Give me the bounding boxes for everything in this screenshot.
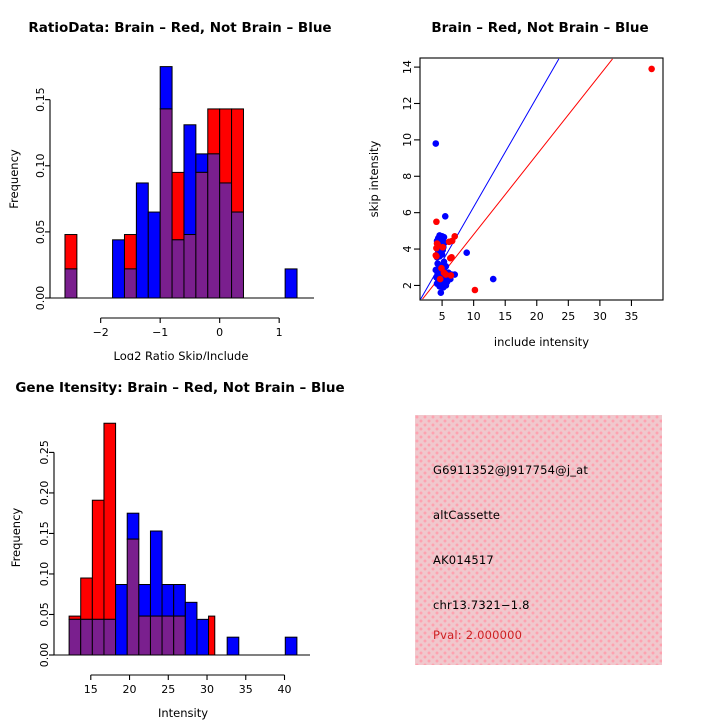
scatter-point: [472, 287, 479, 294]
gene-bars: [69, 423, 297, 655]
info-event-type: altCassette: [433, 508, 500, 522]
gene-x-tick-label: 35: [239, 683, 253, 696]
scatter-y-tick-label: 14: [401, 60, 414, 74]
gene-bar-blue: [116, 585, 128, 656]
panel-scatter: Brain – Red, Not Brain – Blue 2468101214…: [360, 0, 720, 360]
ratio-bar-blue: [160, 67, 172, 109]
gene-histogram-svg: 0.000.050.100.150.200.25Frequency1520253…: [0, 360, 360, 720]
ratio-bar-red: [232, 109, 244, 212]
gene-bar-overlap: [127, 539, 139, 655]
ratio-x-tick-label: −1: [152, 326, 168, 339]
scatter-point: [448, 254, 455, 261]
scatter-plot-box: [420, 58, 663, 300]
gene-bar-overlap: [162, 616, 174, 655]
gene-bar-blue: [174, 585, 186, 617]
ratio-bar-blue: [196, 154, 208, 173]
gene-bar-overlap: [104, 619, 116, 655]
gene-x-tick-label: 15: [84, 683, 98, 696]
ratio-y-tick-label: 0.05: [34, 220, 47, 245]
gene-bar-overlap: [69, 619, 81, 655]
ratio-y-tick-label: 0.00: [34, 286, 47, 311]
scatter-point: [438, 289, 445, 296]
gene-y-tick-label: 0.05: [38, 602, 51, 627]
plot-canvas: RatioData: Brain – Red, Not Brain – Blue…: [0, 0, 720, 720]
scatter-point: [442, 213, 449, 220]
scatter-y-tick-label: 12: [401, 96, 414, 110]
gene-bar-blue: [185, 602, 197, 655]
gene-y-tick-label: 0.20: [38, 481, 51, 506]
ratio-bar-red: [172, 172, 184, 239]
gene-histogram-title: Gene Itensity: Brain – Red, Not Brain – …: [0, 380, 360, 396]
gene-bar-overlap: [92, 619, 104, 655]
info-probe-id: G6911352@J917754@j_at: [433, 463, 588, 477]
scatter-point: [433, 245, 440, 252]
gene-bar-red: [209, 616, 215, 655]
scatter-point: [432, 140, 439, 147]
scatter-y-axis-label: skip intensity: [367, 140, 381, 217]
gene-bar-overlap: [150, 616, 162, 655]
panel-ratio-histogram: RatioData: Brain – Red, Not Brain – Blue…: [0, 0, 360, 360]
scatter-point: [433, 218, 440, 225]
ratio-bar-overlap: [196, 172, 208, 298]
gene-y-tick-label: 0.15: [38, 521, 51, 546]
gene-y-tick-label: 0.10: [38, 562, 51, 587]
gene-y-tick-label: 0.00: [38, 643, 51, 668]
scatter-y-tick-label: 2: [401, 282, 414, 289]
gene-bar-overlap: [81, 619, 93, 655]
gene-y-tick-label: 0.25: [38, 440, 51, 465]
ratio-x-axis-label: Log2 Ratio Skip/Include: [114, 349, 249, 360]
gene-bar-red: [92, 500, 104, 619]
scatter-x-axis-label: include intensity: [494, 335, 589, 349]
ratio-y-tick-label: 0.15: [34, 87, 47, 112]
gene-x-tick-label: 30: [200, 683, 214, 696]
info-accession: AK014517: [433, 553, 494, 567]
ratio-bar-blue: [184, 125, 196, 235]
scatter-point: [448, 272, 455, 279]
ratio-bar-overlap: [232, 212, 244, 298]
gene-x-tick-label: 20: [123, 683, 137, 696]
ratio-bar-overlap: [220, 183, 232, 298]
gene-bar-blue: [150, 531, 162, 616]
scatter-title: Brain – Red, Not Brain – Blue: [360, 20, 720, 36]
info-locus: chr13.7321−1.8: [433, 598, 530, 612]
gene-info-panel: G6911352@J917754@j_at altCassette AK0145…: [415, 415, 662, 665]
ratio-bar-blue: [113, 240, 125, 298]
scatter-x-tick-label: 10: [467, 310, 481, 323]
ratio-bar-red: [220, 109, 232, 183]
scatter-fit-line: [423, 59, 613, 299]
scatter-x-tick-label: 35: [624, 310, 638, 323]
gene-bar-blue: [139, 585, 151, 617]
scatter-point: [490, 276, 497, 283]
gene-bar-blue: [127, 513, 139, 539]
ratio-bar-overlap: [160, 109, 172, 298]
scatter-y-tick-label: 8: [401, 173, 414, 180]
scatter-point: [463, 249, 470, 256]
scatter-series-red: [432, 66, 654, 294]
ratio-bar-red: [208, 109, 220, 154]
ratio-y-axis-label: Frequency: [7, 149, 21, 209]
scatter-x-tick-label: 20: [530, 310, 544, 323]
gene-bar-blue: [162, 585, 174, 617]
ratio-bar-red: [124, 235, 136, 269]
scatter-x-tick-label: 5: [439, 310, 446, 323]
info-pval: Pval: 2.000000: [433, 628, 522, 642]
ratio-bar-blue: [136, 183, 148, 298]
scatter-point: [446, 238, 453, 245]
scatter-x-tick-label: 30: [593, 310, 607, 323]
gene-bar-overlap: [174, 616, 186, 655]
scatter-point: [439, 244, 446, 251]
ratio-bar-overlap: [124, 269, 136, 298]
ratio-histogram-svg: 0.000.050.100.15Frequency−2−101Log2 Rati…: [0, 0, 360, 360]
scatter-y-tick-label: 10: [401, 133, 414, 147]
gene-x-tick-label: 25: [161, 683, 175, 696]
scatter-svg: 2468101214skip intensity5101520253035inc…: [360, 0, 720, 360]
scatter-y-tick-label: 4: [401, 246, 414, 253]
scatter-point: [437, 276, 444, 283]
ratio-bar-overlap: [172, 240, 184, 298]
scatter-point: [433, 253, 440, 260]
ratio-bar-blue: [285, 269, 297, 298]
gene-bar-blue: [227, 637, 239, 655]
gene-y-axis-label: Frequency: [9, 508, 23, 568]
ratio-x-tick-label: 1: [276, 326, 283, 339]
ratio-x-tick-label: −2: [93, 326, 109, 339]
ratio-bars: [65, 67, 297, 298]
ratio-bar-red: [65, 235, 77, 269]
ratio-bar-blue: [148, 212, 160, 298]
gene-bar-red: [81, 578, 93, 619]
ratio-bar-overlap: [184, 235, 196, 298]
panel-gene-histogram: Gene Itensity: Brain – Red, Not Brain – …: [0, 360, 360, 720]
scatter-y-tick-label: 6: [401, 209, 414, 216]
scatter-x-tick-label: 15: [498, 310, 512, 323]
ratio-bar-overlap: [65, 269, 77, 298]
gene-bar-overlap: [139, 616, 151, 655]
scatter-point: [648, 66, 655, 73]
gene-bar-red: [104, 423, 116, 619]
gene-x-tick-label: 40: [278, 683, 292, 696]
ratio-x-tick-label: 0: [216, 326, 223, 339]
ratio-y-tick-label: 0.10: [34, 154, 47, 179]
gene-bar-blue: [285, 637, 297, 655]
gene-x-axis-label: Intensity: [158, 706, 208, 720]
ratio-bar-overlap: [208, 154, 220, 298]
ratio-histogram-title: RatioData: Brain – Red, Not Brain – Blue: [0, 20, 360, 36]
gene-bar-blue: [197, 619, 209, 655]
scatter-x-tick-label: 25: [561, 310, 575, 323]
